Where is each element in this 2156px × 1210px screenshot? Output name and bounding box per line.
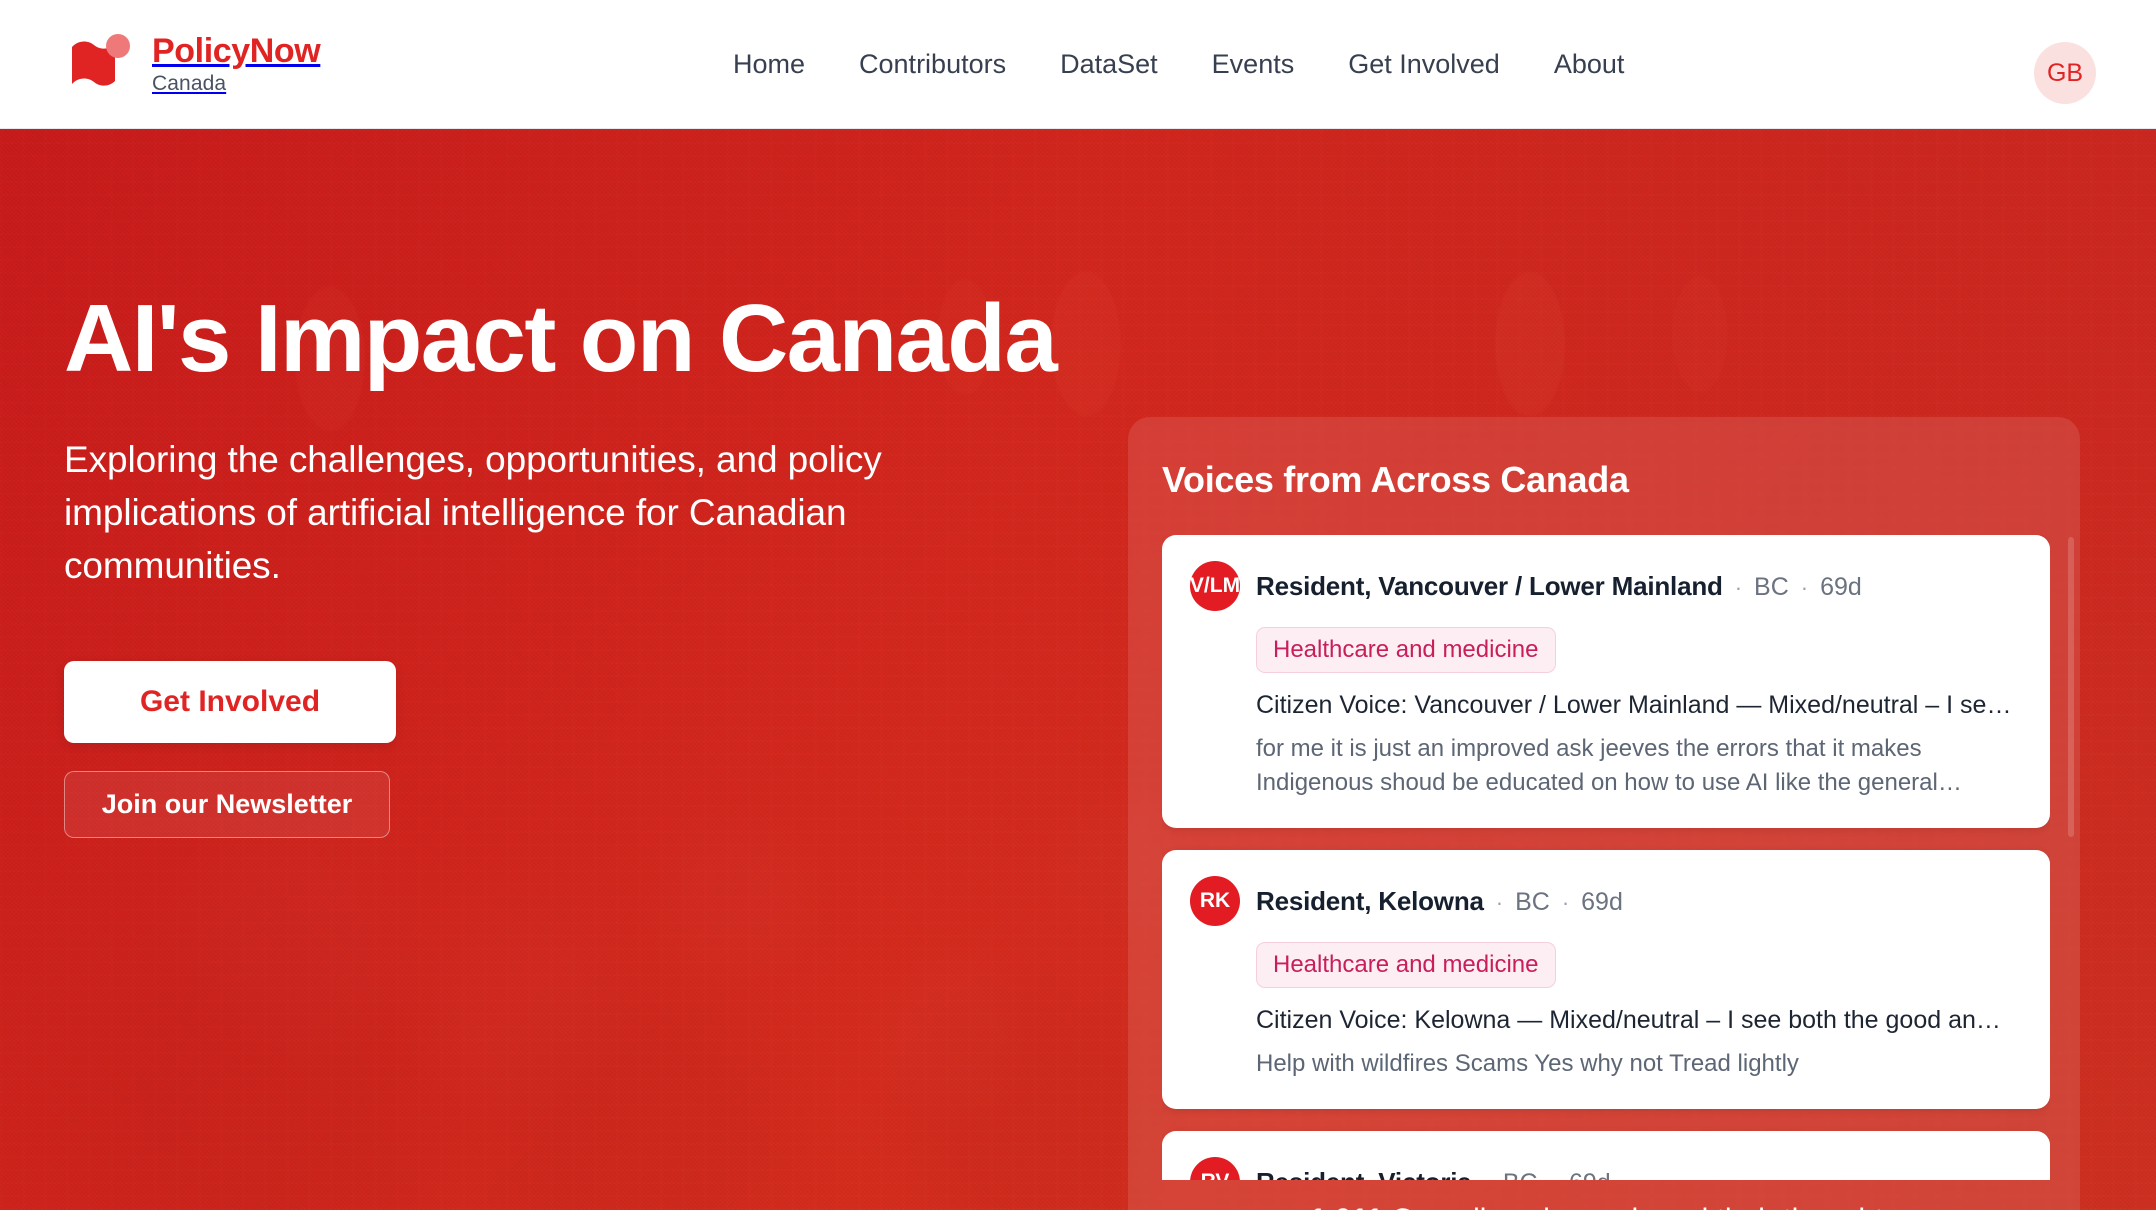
nav-item-events[interactable]: Events: [1185, 41, 1322, 88]
user-avatar-button[interactable]: GB: [2034, 42, 2096, 104]
nav-item-contributors[interactable]: Contributors: [832, 41, 1033, 88]
meta-separator: ·: [1484, 1171, 1491, 1180]
main-navigation: Home Contributors DataSet Events Get Inv…: [706, 0, 1651, 129]
voice-card[interactable]: RK Resident, Kelowna · BC · 69d Healthca…: [1162, 850, 2050, 1109]
voice-age: 69d: [1569, 1169, 1611, 1180]
voice-body: for me it is just an improved ask jeeves…: [1256, 732, 2022, 800]
nav-item-home[interactable]: Home: [706, 41, 832, 88]
avatar: RV: [1190, 1157, 1240, 1180]
meta-separator: ·: [1496, 890, 1503, 916]
voice-author: Resident, Vancouver / Lower Mainland: [1256, 571, 1723, 602]
voice-region: BC: [1503, 1169, 1538, 1180]
voices-stat-label: Canadians have shared their thoughts: [1391, 1203, 1898, 1210]
voices-stat: 1,011 Canadians have shared their though…: [1128, 1203, 2080, 1210]
voice-card-header: RV Resident, Victoria · BC · 69d: [1190, 1157, 2022, 1180]
voice-body-line: for me it is just an improved ask jeeves…: [1256, 732, 2022, 766]
voice-region: BC: [1515, 888, 1550, 917]
voice-body: Help with wildfires Scams Yes why not Tr…: [1256, 1047, 2022, 1081]
voice-headline: Citizen Voice: Vancouver / Lower Mainlan…: [1256, 691, 2018, 720]
status-badge: Healthcare and medicine: [1256, 942, 1556, 988]
meta-separator: ·: [1562, 890, 1569, 916]
brand-name: PolicyNow: [152, 34, 320, 70]
nav-item-about[interactable]: About: [1527, 41, 1652, 88]
avatar: V/LM: [1190, 561, 1240, 611]
voice-card[interactable]: V/LM Resident, Vancouver / Lower Mainlan…: [1162, 535, 2050, 828]
nav-item-get-involved[interactable]: Get Involved: [1321, 41, 1527, 88]
voices-card-list[interactable]: V/LM Resident, Vancouver / Lower Mainlan…: [1162, 535, 2050, 1180]
voice-card-header: RK Resident, Kelowna · BC · 69d: [1190, 876, 2022, 926]
get-involved-button[interactable]: Get Involved: [64, 661, 396, 743]
voice-author: Resident, Kelowna: [1256, 886, 1484, 917]
voices-stat-count: 1,011: [1310, 1203, 1383, 1210]
status-badge: Healthcare and medicine: [1256, 627, 1556, 673]
hero-subtitle: Exploring the challenges, opportunities,…: [64, 433, 1004, 593]
voice-age: 69d: [1581, 888, 1623, 917]
voices-scrollbar[interactable]: [2068, 537, 2074, 837]
hero-copy: AI's Impact on Canada Exploring the chal…: [64, 289, 1074, 838]
meta-separator: ·: [1735, 575, 1742, 601]
voice-author: Resident, Victoria: [1256, 1167, 1472, 1180]
voices-panel: Voices from Across Canada V/LM Resident,…: [1128, 417, 2080, 1210]
page-title: AI's Impact on Canada: [64, 289, 1074, 389]
flag-map-icon: [64, 31, 136, 97]
site-header: PolicyNow Canada Home Contributors DataS…: [0, 0, 2156, 129]
brand-logo-link[interactable]: PolicyNow Canada: [64, 31, 320, 97]
voice-headline: Citizen Voice: Kelowna — Mixed/neutral –…: [1256, 1006, 2018, 1035]
voices-panel-title: Voices from Across Canada: [1162, 459, 2080, 501]
hero-cta-group: Get Involved Join our Newsletter: [64, 661, 1074, 838]
voice-card-header: V/LM Resident, Vancouver / Lower Mainlan…: [1190, 561, 2022, 611]
voice-body-line: Help with wildfires Scams Yes why not Tr…: [1256, 1047, 2022, 1081]
nav-item-dataset[interactable]: DataSet: [1033, 41, 1185, 88]
hero-section: AI's Impact on Canada Exploring the chal…: [0, 129, 2156, 1210]
meta-separator: ·: [1801, 575, 1808, 601]
brand-subtitle: Canada: [152, 73, 320, 94]
voice-region: BC: [1754, 573, 1789, 602]
voice-card[interactable]: RV Resident, Victoria · BC · 69d Not sur…: [1162, 1131, 2050, 1180]
avatar: RK: [1190, 876, 1240, 926]
voice-age: 69d: [1820, 573, 1862, 602]
voice-body-line: Indigenous shoud be educated on how to u…: [1256, 766, 2022, 800]
meta-separator: ·: [1550, 1171, 1557, 1180]
join-newsletter-button[interactable]: Join our Newsletter: [64, 771, 390, 838]
